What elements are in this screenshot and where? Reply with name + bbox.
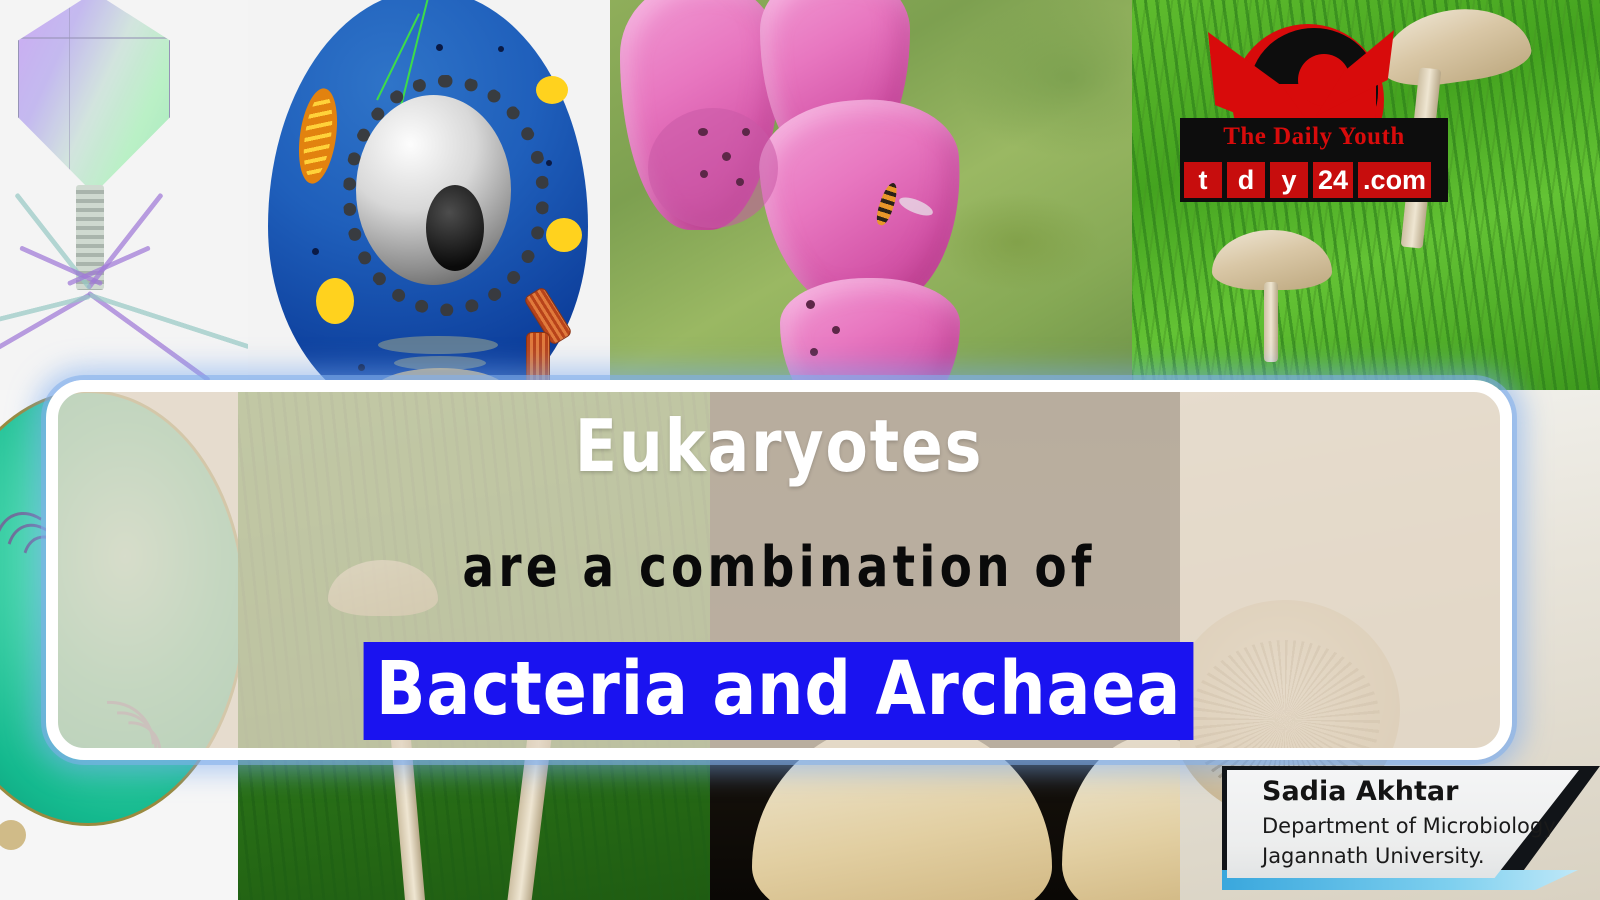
petal-spot-icon: [742, 128, 750, 136]
petal-spot-icon: [700, 170, 708, 178]
logo-chip-t: t: [1184, 162, 1222, 198]
ribosome-icon: [358, 364, 365, 371]
bacteriophage-illustration: [0, 0, 248, 390]
logo-chip-24: 24: [1313, 162, 1353, 198]
eukaryotic-cell-diagram: [248, 0, 610, 390]
foxglove-throat-icon: [648, 108, 778, 228]
mushroom-stem-icon: [1264, 282, 1278, 362]
phage-capsid-icon: [18, 0, 170, 194]
ribosome-icon: [546, 160, 552, 166]
poster-canvas: The Daily Youth t d y 24 .com Eukaryotes…: [0, 0, 1600, 900]
ribosome-icon: [436, 44, 443, 51]
vesicle-icon: [546, 218, 582, 252]
petal-spot-icon: [698, 128, 708, 136]
ribosome-icon: [498, 46, 504, 52]
vesicle-icon: [316, 278, 354, 324]
phage-leg-icon: [87, 290, 211, 382]
ribosome-icon: [312, 248, 319, 255]
headline-panel: Eukaryotes are a combination of Bacteria…: [46, 380, 1512, 760]
logo-domain-chips: t d y 24 .com: [1184, 162, 1431, 198]
logo-chip-y: y: [1270, 162, 1308, 198]
logo-chip-d: d: [1227, 162, 1265, 198]
foxglove-bell-icon: [780, 278, 960, 390]
headline-panel-inner: Eukaryotes are a combination of Bacteria…: [58, 392, 1500, 748]
petal-spot-icon: [736, 178, 744, 186]
mushroom-cap-icon: [1212, 230, 1332, 290]
logo-chip-com: .com: [1358, 162, 1431, 198]
highlight-row: Bacteria and Archaea: [58, 642, 1500, 740]
author-department: Department of Microbiology: [1262, 814, 1556, 838]
author-university: Jagannath University.: [1262, 844, 1485, 868]
logo-brand-text: The Daily Youth: [1180, 123, 1448, 151]
highlight-text: Bacteria and Archaea: [364, 642, 1194, 740]
petal-spot-icon: [806, 300, 815, 309]
daily-youth-logo[interactable]: The Daily Youth t d y 24 .com: [1180, 22, 1450, 202]
foxglove-flowers-photo: [610, 0, 1132, 390]
petal-spot-icon: [810, 348, 818, 356]
page-title: Eukaryotes: [159, 410, 1399, 482]
logo-brand-bar: The Daily Youth: [1180, 118, 1448, 158]
phage-leg-icon: [87, 292, 248, 349]
petal-spot-icon: [832, 326, 840, 334]
vesicle-icon: [536, 76, 568, 104]
golgi-icon: [378, 336, 498, 354]
nucleolus-icon: [426, 185, 484, 271]
petal-spot-icon: [722, 152, 731, 161]
organelle-icon: [0, 820, 26, 850]
page-subtitle: are a combination of: [173, 540, 1384, 596]
author-name: Sadia Akhtar: [1262, 776, 1458, 807]
author-attribution: Sadia Akhtar Department of Microbiology …: [1222, 766, 1600, 900]
